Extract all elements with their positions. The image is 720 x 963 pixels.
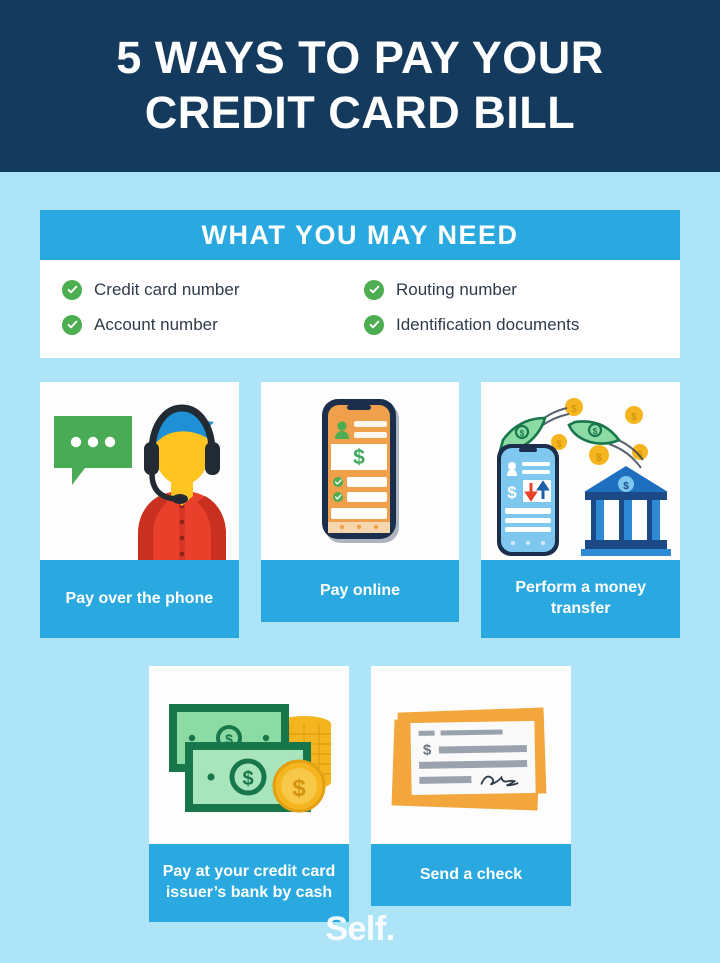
method-card-pay-over-the-phone[interactable]: Pay over the phone bbox=[40, 382, 239, 638]
check-circle-icon bbox=[62, 315, 82, 335]
svg-text:$: $ bbox=[593, 427, 598, 436]
list-item: Credit card number bbox=[62, 274, 356, 305]
svg-text:$: $ bbox=[520, 429, 525, 438]
list-item: Account number bbox=[62, 309, 356, 340]
method-row-bottom: $ $ $ Pay at your credit card issuer’s b… bbox=[40, 666, 680, 922]
svg-text:$: $ bbox=[242, 768, 253, 790]
svg-text:$: $ bbox=[423, 742, 432, 759]
list-item: Routing number bbox=[364, 274, 658, 305]
svg-text:$: $ bbox=[632, 412, 638, 423]
method-label: Pay over the phone bbox=[40, 560, 239, 638]
method-card-perform-a-money-transfer[interactable]: $ $ $ $ $ $ $ bbox=[481, 382, 680, 638]
method-card-send-a-check[interactable]: $ Send a check bbox=[371, 666, 571, 922]
need-label: Credit card number bbox=[94, 280, 240, 300]
svg-text:$: $ bbox=[508, 483, 518, 502]
svg-text:$: $ bbox=[557, 439, 562, 449]
what-you-may-need-panel: What You May Need Credit card number Rou… bbox=[40, 210, 680, 358]
svg-text:$: $ bbox=[596, 452, 602, 464]
svg-text:$: $ bbox=[353, 446, 365, 469]
call-center-agent-headset-illustration bbox=[40, 382, 239, 560]
method-card-pay-online[interactable]: $ Pay online bbox=[261, 382, 460, 638]
method-label: Send a check bbox=[371, 844, 571, 906]
phone-to-bank-money-transfer-illustration: $ $ $ $ $ $ $ bbox=[481, 382, 680, 560]
method-row-top: Pay over the phone $ bbox=[40, 382, 680, 638]
paper-checks-illustration: $ bbox=[371, 666, 571, 844]
what-you-may-need-heading-bar: What You May Need bbox=[40, 210, 680, 260]
svg-text:$: $ bbox=[572, 404, 578, 415]
method-label: Pay online bbox=[261, 560, 460, 622]
need-label: Routing number bbox=[396, 280, 517, 300]
header-banner: 5 Ways to Pay Your Credit Card Bill bbox=[0, 0, 720, 172]
method-card-pay-at-bank-by-cash[interactable]: $ $ $ Pay at your credit card issuer’s b… bbox=[149, 666, 349, 922]
page-title: 5 Ways to Pay Your Credit Card Bill bbox=[40, 31, 680, 141]
cash-bills-and-coins-illustration: $ $ $ bbox=[149, 666, 349, 844]
smartphone-payment-app-illustration: $ bbox=[261, 382, 460, 560]
svg-text:$: $ bbox=[292, 775, 306, 802]
check-circle-icon bbox=[364, 280, 384, 300]
check-circle-icon bbox=[62, 280, 82, 300]
method-label: Perform a money transfer bbox=[481, 560, 680, 638]
need-label: Identification documents bbox=[396, 315, 579, 335]
need-label: Account number bbox=[94, 315, 218, 335]
needs-list: Credit card number Routing number Accoun… bbox=[40, 260, 680, 358]
self-logo: Self. bbox=[325, 910, 394, 949]
svg-text:$: $ bbox=[624, 481, 630, 492]
check-circle-icon bbox=[364, 315, 384, 335]
list-item: Identification documents bbox=[364, 309, 658, 340]
section-heading: What You May Need bbox=[201, 220, 518, 251]
footer: Self. bbox=[0, 910, 720, 949]
